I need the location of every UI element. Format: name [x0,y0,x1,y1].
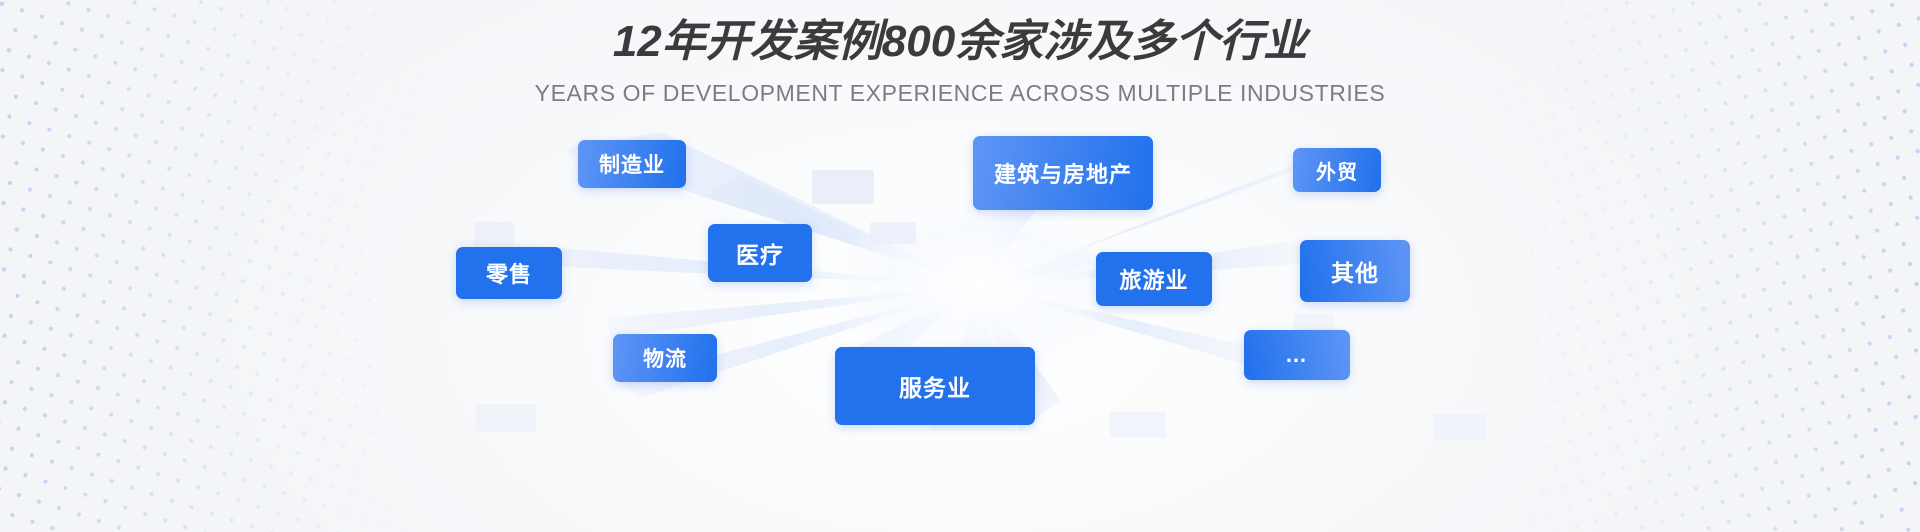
deco-square [870,222,916,244]
industry-pill-label: … [1285,342,1309,368]
industry-pill-label: 旅游业 [1119,263,1188,295]
deco-square [1434,414,1486,440]
industry-pill-label: 外贸 [1316,156,1358,185]
page-subtitle: YEARS OF DEVELOPMENT EXPERIENCE ACROSS M… [0,78,1920,108]
industry-pill-foreign-trade[interactable]: 外贸 [1293,148,1381,192]
deco-square [476,404,536,432]
deco-square [812,170,874,204]
industry-pill-label: 其他 [1331,254,1379,288]
industry-pill-label: 建筑与房地产 [994,157,1132,189]
industry-pill-service[interactable]: 服务业 [835,347,1035,425]
industry-pill-others[interactable]: 其他 [1300,240,1410,302]
industry-pill-tourism[interactable]: 旅游业 [1096,252,1212,306]
industry-pill-label: 制造业 [599,149,665,179]
industry-pill-label: 服务业 [899,369,971,403]
deco-square [1110,412,1166,438]
industry-pill-manufacturing[interactable]: 制造业 [578,140,686,188]
industry-pill-construction[interactable]: 建筑与房地产 [973,136,1153,210]
industry-pill-medical[interactable]: 医疗 [708,224,812,282]
hero-banner: 12年开发案例800余家涉及多个行业 YEARS OF DEVELOPMENT … [0,0,1920,532]
industry-pill-retail[interactable]: 零售 [456,247,562,299]
industry-pill-label: 物流 [643,343,687,373]
page-title: 12年开发案例800余家涉及多个行业 [0,14,1920,70]
industry-pill-label: 医疗 [736,236,784,270]
industry-pill-label: 零售 [486,257,532,289]
industry-pill-more[interactable]: … [1244,330,1350,380]
industry-pill-logistics[interactable]: 物流 [613,334,717,382]
